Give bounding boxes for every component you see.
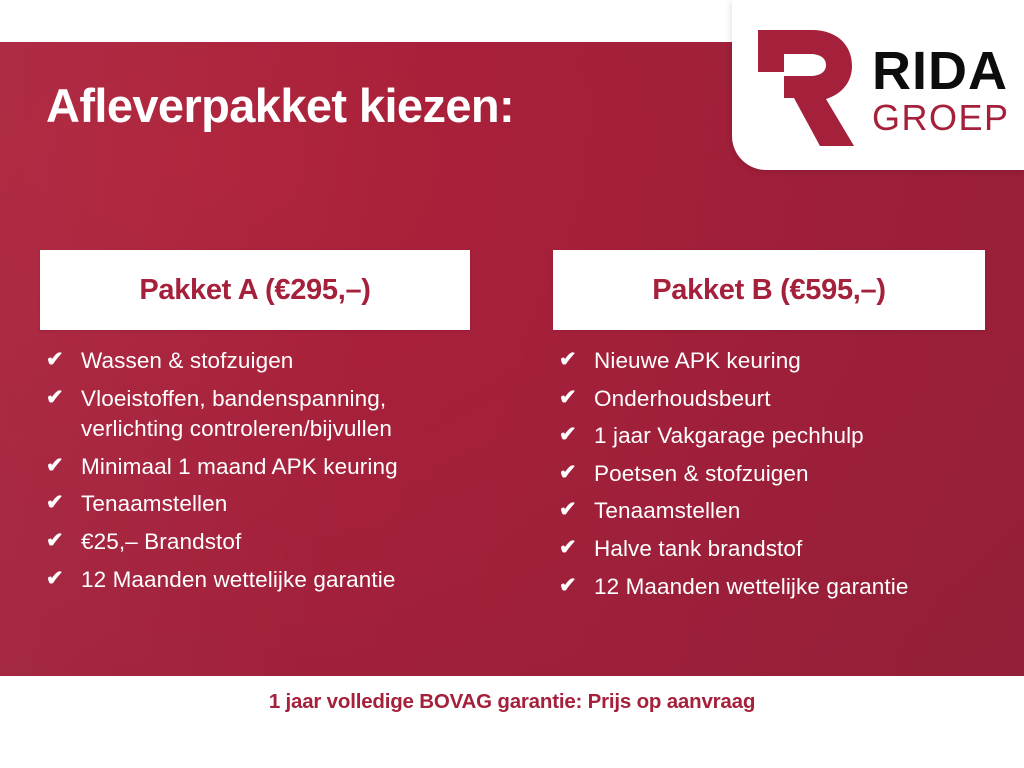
list-item: ✔ 12 Maanden wettelijke garantie — [555, 572, 985, 603]
check-icon: ✔ — [42, 565, 76, 594]
list-item-label: 12 Maanden wettelijke garantie — [594, 572, 985, 603]
list-item: ✔ Tenaamstellen — [42, 489, 470, 520]
check-icon: ✔ — [42, 489, 76, 518]
check-icon: ✔ — [42, 452, 76, 481]
check-icon: ✔ — [555, 346, 589, 375]
list-item-label: Tenaamstellen — [594, 496, 985, 527]
slide-root: RIDA GROEP Afleverpakket kiezen: Pakket … — [0, 0, 1024, 768]
footer-note: 1 jaar volledige BOVAG garantie: Prijs o… — [0, 690, 1024, 714]
rida-r-monogram-icon — [754, 26, 858, 150]
list-item-label: 12 Maanden wettelijke garantie — [81, 565, 470, 596]
list-item-label: Vloeistoffen, bandenspanning, verlichtin… — [81, 384, 470, 445]
package-a-title: Pakket A (€295,–) — [139, 274, 370, 307]
list-item: ✔ €25,– Brandstof — [42, 527, 470, 558]
package-a-header: Pakket A (€295,–) — [40, 250, 470, 330]
list-item: ✔ Wassen & stofzuigen — [42, 346, 470, 377]
logo-wordmark: RIDA GROEP — [872, 44, 1010, 136]
check-icon: ✔ — [42, 527, 76, 556]
check-icon: ✔ — [555, 459, 589, 488]
list-item-label: €25,– Brandstof — [81, 527, 470, 558]
list-item-label: Halve tank brandstof — [594, 534, 985, 565]
brand-logo: RIDA GROEP — [732, 0, 1024, 170]
package-a-feature-list: ✔ Wassen & stofzuigen ✔ Vloeistoffen, ba… — [40, 330, 470, 595]
list-item: ✔ Halve tank brandstof — [555, 534, 985, 565]
list-item-label: 1 jaar Vakgarage pechhulp — [594, 421, 985, 452]
check-icon: ✔ — [42, 346, 76, 375]
logo-primary-text: RIDA — [872, 44, 1010, 98]
list-item: ✔ Nieuwe APK keuring — [555, 346, 985, 377]
check-icon: ✔ — [555, 534, 589, 563]
check-icon: ✔ — [42, 384, 76, 413]
package-card-b: Pakket B (€595,–) ✔ Nieuwe APK keuring ✔… — [553, 250, 985, 609]
package-card-a: Pakket A (€295,–) ✔ Wassen & stofzuigen … — [40, 250, 470, 602]
list-item-label: Wassen & stofzuigen — [81, 346, 470, 377]
logo-inner: RIDA GROEP — [732, 0, 1024, 170]
check-icon: ✔ — [555, 421, 589, 450]
logo-secondary-text: GROEP — [872, 100, 1010, 136]
list-item: ✔ Poetsen & stofzuigen — [555, 459, 985, 490]
list-item-label: Minimaal 1 maand APK keuring — [81, 452, 470, 483]
footer-bar: 1 jaar volledige BOVAG garantie: Prijs o… — [0, 676, 1024, 768]
list-item: ✔ Tenaamstellen — [555, 496, 985, 527]
list-item-label: Poetsen & stofzuigen — [594, 459, 985, 490]
check-icon: ✔ — [555, 384, 589, 413]
list-item-label: Nieuwe APK keuring — [594, 346, 985, 377]
list-item: ✔ Vloeistoffen, bandenspanning, verlicht… — [42, 384, 470, 445]
list-item-label: Onderhoudsbeurt — [594, 384, 985, 415]
check-icon: ✔ — [555, 572, 589, 601]
package-b-feature-list: ✔ Nieuwe APK keuring ✔ Onderhoudsbeurt ✔… — [553, 330, 985, 602]
list-item: ✔ Onderhoudsbeurt — [555, 384, 985, 415]
check-icon: ✔ — [555, 496, 589, 525]
list-item: ✔ Minimaal 1 maand APK keuring — [42, 452, 470, 483]
list-item: ✔ 1 jaar Vakgarage pechhulp — [555, 421, 985, 452]
list-item-label: Tenaamstellen — [81, 489, 470, 520]
list-item: ✔ 12 Maanden wettelijke garantie — [42, 565, 470, 596]
package-b-title: Pakket B (€595,–) — [652, 274, 886, 307]
package-b-header: Pakket B (€595,–) — [553, 250, 985, 330]
